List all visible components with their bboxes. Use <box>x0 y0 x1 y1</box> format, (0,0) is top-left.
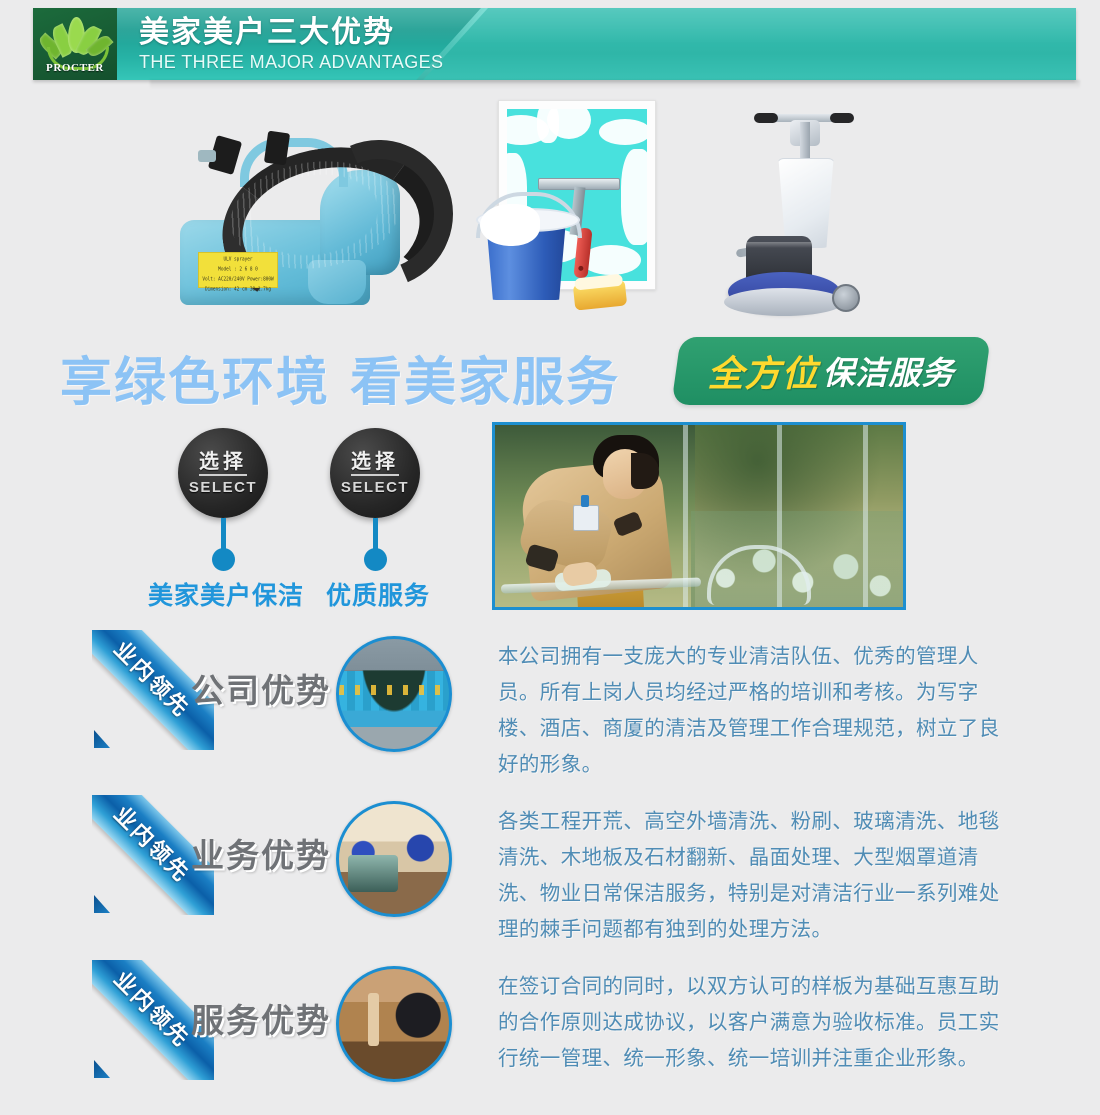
sprayer-clip <box>264 131 290 166</box>
header-title-en: THE THREE MAJOR ADVANTAGES <box>139 50 443 74</box>
advantage-paragraph: 各类工程开荒、高空外墙清洗、粉刷、玻璃清洗、地毯清洗、木地板及石材翻新、晶面处理… <box>498 803 1018 947</box>
badge-highlight-text: 全方位 <box>707 345 818 397</box>
advantage-text: 本公司拥有一支庞大的专业清洁队伍、优秀的管理人员。所有上岗人员均经过严格的培训和… <box>498 638 1018 782</box>
advantage-title: 服务优势 <box>186 994 336 1042</box>
select-badge-group: 选择 SELECT 美家美户保洁 选择 SELECT 优质服务 <box>0 420 470 620</box>
polisher-base-rim <box>724 288 844 316</box>
header-title-cn: 美家美户三大优势 <box>139 16 443 50</box>
sponge-icon <box>573 279 627 310</box>
worker-id-badge <box>573 505 599 531</box>
select-circle-en: SELECT <box>341 479 409 496</box>
advantage-text: 在签订合同的同时，以双方认可的样板为基础互惠互助的合作原则达成协议，以客户满意为… <box>498 968 1018 1076</box>
select-circle-cn: 选择 <box>351 450 399 476</box>
product-ulv-sprayer: ULV sprayer Model : 2 6 8 0 Volt: AC220/… <box>170 110 430 325</box>
header-drop-shadow <box>150 80 1080 89</box>
product-image-strip: ULV sprayer Model : 2 6 8 0 Volt: AC220/… <box>0 92 1100 332</box>
leaf-crown-icon <box>41 14 109 58</box>
advantage-text: 各类工程开荒、高空外墙清洗、粉刷、玻璃清洗、地毯清洗、木地板及石材翻新、晶面处理… <box>498 803 1018 947</box>
polisher-wheel <box>832 284 860 312</box>
hero-photo <box>492 422 906 610</box>
brand-logo: PROCTER <box>33 8 117 80</box>
select-label-1: 美家美户保洁 <box>138 576 314 612</box>
pin-dot-icon <box>364 548 387 571</box>
cleaning-worker <box>519 431 699 610</box>
advantage-photo <box>336 636 452 752</box>
ribbon-text: 业内领先 <box>108 963 199 1054</box>
page-header: PROCTER 美家美户三大优势 THE THREE MAJOR ADVANTA… <box>33 8 1076 80</box>
ribbon-text: 业内领先 <box>108 798 199 889</box>
advantage-rows: 业内领先 公司优势 本公司拥有一支庞大的专业清洁队伍、优秀的管理人员。所有上岗人… <box>0 620 1100 1115</box>
suds-streak <box>599 119 647 145</box>
advantage-row: 业内领先 业务优势 各类工程开荒、高空外墙清洗、粉刷、玻璃清洗、地毯清洗、木地板… <box>0 785 1100 950</box>
advantage-title: 业务优势 <box>186 829 336 877</box>
window-mullion <box>863 425 868 607</box>
polisher-grip <box>830 113 854 123</box>
pin-dot-icon <box>212 548 235 571</box>
advantage-photo <box>336 801 452 917</box>
suds-streak <box>621 149 647 245</box>
advantage-photo <box>336 966 452 1082</box>
promo-page: PROCTER 美家美户三大优势 THE THREE MAJOR ADVANTA… <box>0 0 1100 1096</box>
logo-wordmark: PROCTER <box>33 62 117 74</box>
select-circle-cn: 选择 <box>199 450 247 476</box>
ribbon-fold <box>94 730 110 748</box>
main-headline: 享绿色环境 看美家服务 <box>60 340 620 415</box>
badge-clip-icon <box>581 495 589 507</box>
ribbon-fold <box>94 895 110 913</box>
ribbon-text: 业内领先 <box>108 633 199 724</box>
ribbon-fold <box>94 1060 110 1078</box>
product-floor-polisher <box>718 96 918 324</box>
product-window-cleaning-set <box>470 92 690 322</box>
bucket-foam <box>480 204 540 246</box>
polisher-grip <box>754 113 778 123</box>
advantage-title: 公司优势 <box>186 664 336 712</box>
polisher-solution-tank <box>776 158 836 248</box>
sprayer-spec-label: ULV sprayer Model : 2 6 8 0 Volt: AC220/… <box>198 252 278 288</box>
select-circle-en: SELECT <box>189 479 257 496</box>
select-circle-icon[interactable]: 选择 SELECT <box>330 428 420 518</box>
sprayer-label-line4: Dimension: 42 cm 38 1.7kg <box>199 282 277 294</box>
select-circle-icon[interactable]: 选择 SELECT <box>178 428 268 518</box>
select-label-2: 优质服务 <box>290 576 466 612</box>
advantage-row: 业内领先 服务优势 在签订合同的同时，以双方认可的样板为基础互惠互助的合作原则达… <box>0 950 1100 1115</box>
advantage-paragraph: 本公司拥有一支庞大的专业清洁队伍、优秀的管理人员。所有上岗人员均经过严格的培训和… <box>498 638 1018 782</box>
advantage-paragraph: 在签订合同的同时，以双方认可的样板为基础互惠互助的合作原则达成协议，以客户满意为… <box>498 968 1018 1076</box>
sprayer-cap <box>198 150 216 162</box>
suds-streak <box>537 109 559 143</box>
header-text-block: 美家美户三大优势 THE THREE MAJOR ADVANTAGES <box>139 16 443 74</box>
advantage-row: 业内领先 公司优势 本公司拥有一支庞大的专业清洁队伍、优秀的管理人员。所有上岗人… <box>0 620 1100 785</box>
badge-rest-text: 保洁服务 <box>823 348 955 394</box>
service-badge: 全方位 保洁服务 <box>671 337 991 405</box>
